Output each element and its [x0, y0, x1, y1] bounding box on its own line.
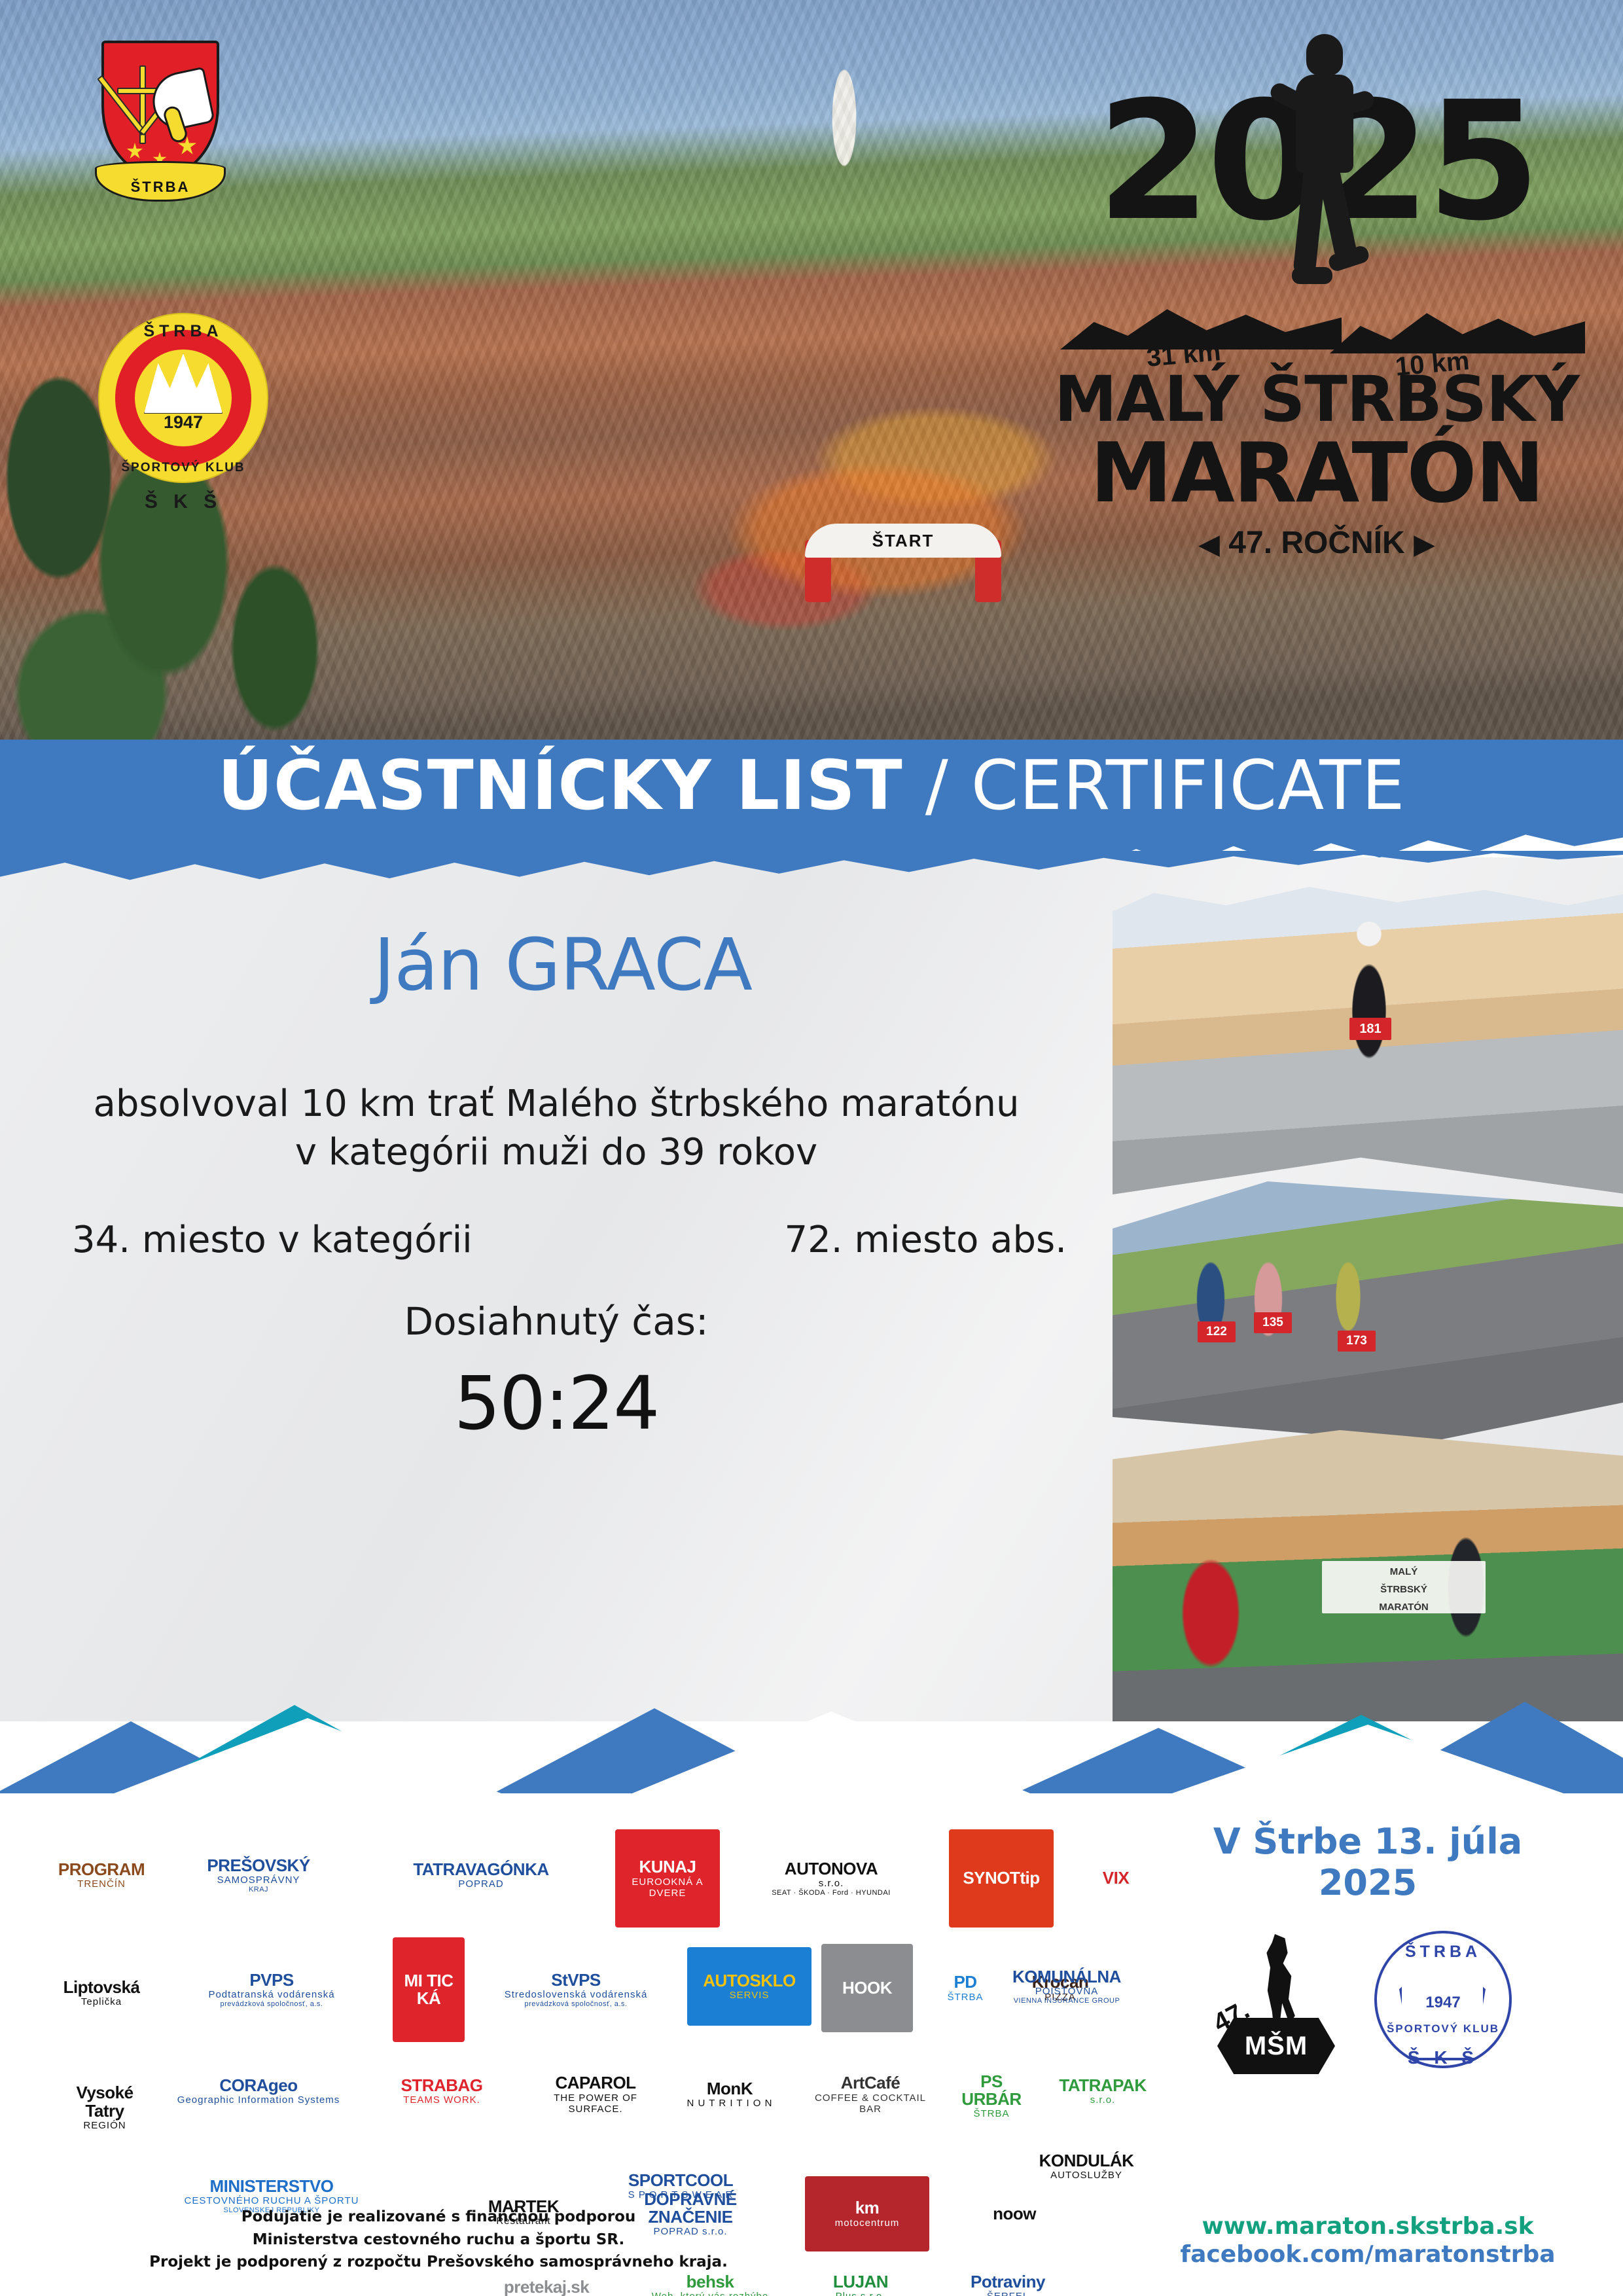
runner-bib-c: 173	[1338, 1331, 1376, 1352]
runner-bib-b: 135	[1254, 1312, 1292, 1333]
sponsor-tagline: Web, ktorý vás rozhýbe	[652, 2291, 768, 2296]
sponsor-tagline: CESTOVNÉHO RUCHU A ŠPORTU	[185, 2195, 359, 2206]
funding-note-line-1: Podujatie je realizované s finančnou pod…	[52, 2206, 825, 2229]
sponsor-logo: TATRAVAGÓNKAPOPRAD	[373, 1833, 589, 1918]
sponsor-name: AUTOSKLO	[703, 1972, 795, 1990]
sponsor-name: StVPS	[551, 1971, 601, 1989]
sponsor-logo: VIX	[1067, 1829, 1165, 1928]
sponsor-logo: KOMUNÁLNAPOISŤOVŇAVIENNA INSURANCE GROUP	[969, 1937, 1165, 2036]
sponsor-logo: LiptovskáTeplička	[52, 1937, 151, 2049]
sponsor-name: TATRAPAK	[1059, 2077, 1146, 2094]
sponsor-logo: PVPSPodtatranská vodárenskáprevádzková s…	[164, 1941, 380, 2039]
sks-top-label: ŠTRBA	[1368, 1943, 1518, 1962]
participant-name: Ján GRACA	[79, 923, 1047, 1007]
sponsor-name: behsk	[687, 2273, 734, 2291]
edition-arrow-left-icon: ◀	[1200, 529, 1220, 560]
sks-stamp-icon: ŠTRBA 1947 ŠPORTOVÝ KLUB Š K Š	[1368, 1931, 1518, 2094]
sponsor-subtagline: KRAJ	[249, 1886, 268, 1893]
sponsor-tagline: THE POWER OF SURFACE.	[539, 2092, 652, 2115]
sponsor-logo: MI TIC KÁ	[393, 1937, 465, 2042]
sponsor-name: AUTONOVA	[785, 1860, 878, 1878]
sponsor-logo: AUTONOVAs.r.o.SEAT · ŠKODA · Ford · HYUN…	[733, 1829, 929, 1928]
shield-star-1	[126, 143, 143, 160]
sponsor-logo-box: KUNAJEUROOKNÁ A DVERE	[615, 1829, 720, 1928]
sponsor-logo: StVPSStredoslovenská vodárenskáprevádzko…	[478, 1941, 674, 2039]
sponsor-subtagline: prevádzková spoločnosť, a.s.	[525, 2000, 628, 2008]
sponsor-logo: TATRAPAKs.r.o.	[1041, 2052, 1165, 2130]
sponsor-name: VIX	[1103, 1869, 1129, 1887]
msm-diamond: MŠM	[1217, 2018, 1335, 2074]
club-abbrev-label: Š K Š	[98, 491, 268, 513]
shield-banner-label: ŠTRBA	[131, 179, 190, 196]
sponsor-tagline: TRENČÍN	[77, 1878, 126, 1890]
page-title-regular: CERTIFICATE	[971, 745, 1406, 825]
event-edition-row: ◀47. ROČNÍK▶	[1048, 525, 1585, 561]
club-year-label: 1947	[98, 412, 268, 433]
edition-arrow-right-icon: ▶	[1414, 529, 1435, 560]
sponsor-name: KUNAJ	[639, 1858, 696, 1876]
sponsor-logo-box: HOOK	[821, 1944, 913, 2032]
contact-urls: www.maraton.skstrba.sk facebook.com/mara…	[1152, 2212, 1584, 2269]
sponsor-logo-box: PREŠOVSKÝSAMOSPRÁVNYKRAJ	[164, 1833, 353, 1918]
sponsor-name: PROGRAM	[58, 1861, 145, 1878]
shield-banner: ŠTRBA	[95, 161, 226, 202]
sponsor-logo-box: PROGRAMTRENČÍN	[52, 1826, 151, 1924]
sponsor-name: SYNOTtip	[963, 1869, 1039, 1887]
sponsor-logo-box: CORAgeoGeographic Information Systems	[164, 2052, 353, 2130]
page-title-separator: /	[903, 745, 971, 825]
sponsor-name: Liptovská	[63, 1979, 140, 1996]
sponsor-name: CORAgeo	[219, 2077, 297, 2094]
sks-bottom-label: Š K Š	[1368, 2047, 1518, 2068]
sponsor-tagline: Stredoslovenská vodárenská	[505, 1989, 648, 2000]
sponsor-logo-box: KOMUNÁLNAPOISŤOVŇAVIENNA INSURANCE GROUP	[969, 1937, 1165, 2036]
runner-head	[1306, 34, 1343, 76]
sponsor-tagline: motocentrum	[835, 2217, 900, 2229]
description-line-2: v kategórii muži do 39 rokov	[52, 1128, 1060, 1177]
sponsor-logo: PREŠOVSKÝSAMOSPRÁVNYKRAJ	[164, 1833, 353, 1918]
finish-banner-line2: ŠTRBSKÝ	[1322, 1579, 1486, 1596]
start-arch-label: ŠTART	[872, 531, 935, 551]
finish-banner-line1: MALÝ	[1322, 1561, 1486, 1579]
sponsor-name: pretekaj.sk	[504, 2278, 589, 2296]
sponsor-subtagline: VIENNA INSURANCE GROUP	[1014, 1997, 1120, 2005]
sponsor-logo-box: Vysoké TatryREGIÓN	[52, 2055, 157, 2160]
sponsor-tagline: s.r.o.	[819, 1878, 844, 1889]
sponsor-tagline: SAMOSPRÁVNY	[217, 1874, 300, 1886]
sponsor-name: HOOK	[842, 1979, 892, 1997]
sponsor-logo-box: PotravinyŠERFEL	[936, 2255, 1080, 2296]
sponsor-tagline: Plus s.r.o.	[836, 2291, 886, 2296]
club-top-label: ŠTRBA	[98, 322, 268, 341]
sponsor-logo-box: CAPAROLTHE POWER OF SURFACE.	[537, 2052, 654, 2137]
sponsor-logo-box: AUTOSKLOSERVIS	[687, 1947, 811, 2026]
sponsor-logo: CAPAROLTHE POWER OF SURFACE.	[537, 2052, 654, 2137]
sponsor-tagline: REGIÓN	[83, 2120, 126, 2131]
time-label: Dosiahnutý čas:	[79, 1299, 1034, 1344]
runner-leg-right	[1316, 161, 1358, 262]
sponsor-tagline: SERVIS	[730, 1990, 770, 2001]
photo-runners-road: 122 135 173	[1113, 1181, 1623, 1443]
sponsor-name: PS URBÁR	[952, 2073, 1031, 2109]
funding-note-line-3: Projekt je podporený z rozpočtu Prešovsk…	[52, 2251, 825, 2274]
sponsor-tagline: ŠERFEL	[987, 2291, 1029, 2296]
event-name-line1: MALÝ ŠTRBSKÝ	[1048, 368, 1585, 432]
sponsor-logo: CORAgeoGeographic Information Systems	[164, 2052, 353, 2130]
sks-year-label: 1947	[1368, 1994, 1518, 2012]
sponsor-logo: HOOK	[821, 1944, 913, 2032]
club-bottom-label: ŠPORTOVÝ KLUB	[98, 461, 268, 475]
description-line-1: absolvoval 10 km trať Malého štrbského m…	[52, 1080, 1060, 1128]
sponsor-logo: ArtCaféCOFFEE & COCKTAIL BAR	[805, 2052, 936, 2137]
sponsor-name: MonK	[707, 2080, 753, 2098]
msm-abbrev-label: MŠM	[1245, 2032, 1308, 2061]
sponsor-logo: KUNAJEUROOKNÁ A DVERE	[615, 1829, 720, 1928]
sponsor-subtagline: prevádzková spoločnosť, a.s.	[221, 2000, 323, 2008]
sponsor-logo-box: STRABAGTEAMS WORK.	[366, 2052, 517, 2130]
page-title: ÚČASTNÍCKY LIST / CERTIFICATE	[0, 751, 1623, 819]
sponsor-name: CAPAROL	[555, 2074, 635, 2092]
page-title-bold: ÚČASTNÍCKY LIST	[218, 745, 903, 825]
sponsor-tagline: EUROOKNÁ A DVERE	[618, 1876, 717, 1899]
sponsor-logo-box: SYNOTtip	[949, 1829, 1054, 1928]
sponsor-logo: AUTOSKLOSERVIS	[687, 1947, 811, 2026]
sponsor-logo-box: PVPSPodtatranská vodárenskáprevádzková s…	[164, 1941, 380, 2039]
msm-stamp-icon: 47. MŠM	[1211, 1934, 1342, 2085]
sponsor-name: PVPS	[249, 1971, 293, 1989]
finish-banner-line3: MARATÓN	[1322, 1596, 1486, 1614]
sponsor-logo-box: VIX	[1067, 1829, 1165, 1928]
sponsor-tagline: Geographic Information Systems	[177, 2094, 340, 2106]
sponsor-logo-box: StVPSStredoslovenská vodárenskáprevádzko…	[478, 1941, 674, 2039]
sponsor-logo: PROGRAMTRENČÍN	[52, 1826, 151, 1924]
sponsor-logo-box: MonKN U T R I T I O N	[668, 2055, 792, 2134]
sponsor-logo-box: noow	[955, 2176, 1073, 2251]
sponsor-tagline: s.r.o.	[1090, 2094, 1116, 2106]
runner-bib-a: 122	[1198, 1321, 1236, 1342]
sponsor-name: PREŠOVSKÝ	[207, 1857, 310, 1874]
sponsor-tagline: Podtatranská vodárenská	[208, 1989, 334, 2000]
sponsor-name: KONDULÁK	[1039, 2152, 1134, 2170]
place-in-category: 34. miesto v kategórii	[72, 1219, 473, 1261]
sponsor-logo-grid: PROGRAMTRENČÍNPREŠOVSKÝSAMOSPRÁVNYKRAJTA…	[39, 1806, 1165, 2238]
sponsor-name: Vysoké Tatry	[55, 2084, 154, 2120]
sponsor-name: KOMUNÁLNA	[1012, 1968, 1121, 1986]
runner-silhouette-icon	[1266, 34, 1377, 309]
place-absolute: 72. miesto abs.	[785, 1219, 1067, 1261]
sport-club-emblem-icon: ŠTRBA 1947 ŠPORTOVÝ KLUB Š K Š	[98, 313, 268, 483]
time-value: 50:24	[79, 1361, 1034, 1446]
website-url[interactable]: www.maraton.skstrba.sk	[1152, 2212, 1584, 2240]
photo-finisher: 181	[1113, 887, 1623, 1194]
arch-top: ŠTART	[805, 524, 1001, 558]
sponsor-logo: PotravinyŠERFEL	[936, 2255, 1080, 2296]
sponsor-logo: SYNOTtip	[949, 1829, 1054, 1928]
sponsor-tagline: ŠTRBA	[973, 2108, 1009, 2119]
sponsor-logo-box: TATRAVAGÓNKAPOPRAD	[373, 1833, 589, 1918]
sponsor-logo-box: LiptovskáTeplička	[52, 1937, 151, 2049]
sponsor-tagline: Teplička	[81, 1996, 122, 2007]
issue-date: V Štrbe 13. júla 2025	[1158, 1821, 1577, 1903]
placement-row: 34. miesto v kategórii 72. miesto abs.	[72, 1219, 1067, 1261]
sponsor-logo: STRABAGTEAMS WORK.	[366, 2052, 517, 2130]
event-name: MALÝ ŠTRBSKÝ MARATÓN	[1048, 368, 1585, 514]
certificate-description: absolvoval 10 km trať Malého štrbského m…	[52, 1080, 1060, 1177]
sponsor-name: LUJAN	[833, 2273, 888, 2291]
funding-note-line-2: Ministerstva cestovného ruchu a športu S…	[52, 2229, 825, 2251]
sponsor-logo-box: TATRAPAKs.r.o.	[1041, 2052, 1165, 2130]
shield-field	[101, 41, 219, 178]
sponsor-logo: Vysoké TatryREGIÓN	[52, 2055, 157, 2160]
sponsor-tagline: COFFEE & COCKTAIL BAR	[808, 2092, 933, 2115]
start-arch: ŠTART	[805, 524, 1001, 602]
event-edition-label: 47. ROČNÍK	[1228, 526, 1404, 560]
sponsor-name: MI TIC KÁ	[395, 1972, 462, 2008]
facebook-url[interactable]: facebook.com/maratonstrba	[1152, 2240, 1584, 2269]
strba-coat-of-arms-icon: ŠTRBA	[95, 41, 226, 211]
sponsor-logo-box: AUTONOVAs.r.o.SEAT · ŠKODA · Ford · HYUN…	[733, 1829, 929, 1928]
sponsor-name: km	[855, 2199, 880, 2217]
sponsor-name: TATRAVAGÓNKA	[413, 1861, 548, 1878]
sponsor-name: MINISTERSTVO	[209, 2178, 333, 2195]
runner-shoe-left	[1292, 267, 1332, 284]
event-logo: 2025 31 km 10 km MALÝ ŠTRBSKÝ MARATÓN ◀4…	[1048, 27, 1585, 617]
funding-note: Podujatie je realizované s finančnou pod…	[52, 2206, 825, 2274]
sponsor-logo-box: ArtCaféCOFFEE & COCKTAIL BAR	[805, 2052, 936, 2137]
sponsor-name: ArtCafé	[841, 2074, 900, 2092]
certificate-page: ŠTART ŠTRBA ŠTRBA 1947 ŠPORTOVÝ KLUB Š K…	[0, 0, 1623, 2296]
event-name-line2: MARATÓN	[1048, 432, 1585, 514]
sks-mid-label: ŠPORTOVÝ KLUB	[1368, 2022, 1518, 2036]
sponsor-subtagline: SEAT · ŠKODA · Ford · HYUNDAI	[772, 1889, 891, 1897]
sponsor-tagline: POISŤOVŇA	[1035, 1986, 1099, 1997]
finish-banner: MALÝ ŠTRBSKÝ MARATÓN	[1322, 1561, 1486, 1613]
sponsor-name: Potraviny	[971, 2273, 1045, 2291]
photo-collage: 181 122 135 173 MALÝ ŠTRBSKÝ MARATÓN	[1113, 887, 1623, 1721]
sponsor-logo: MonKN U T R I T I O N	[668, 2055, 792, 2134]
finisher-bib-number: 181	[1349, 1018, 1391, 1040]
sponsor-tagline: TEAMS WORK.	[403, 2094, 480, 2106]
sponsor-tagline: POPRAD	[458, 1878, 503, 1890]
runner-torso	[1296, 75, 1353, 173]
sponsor-logo-box: MI TIC KÁ	[393, 1937, 465, 2042]
sponsor-name: STRABAG	[401, 2077, 482, 2094]
sponsor-tagline: N U T R I T I O N	[687, 2098, 773, 2109]
sponsor-logo: noow	[955, 2176, 1073, 2251]
sponsor-name: noow	[993, 2205, 1036, 2223]
